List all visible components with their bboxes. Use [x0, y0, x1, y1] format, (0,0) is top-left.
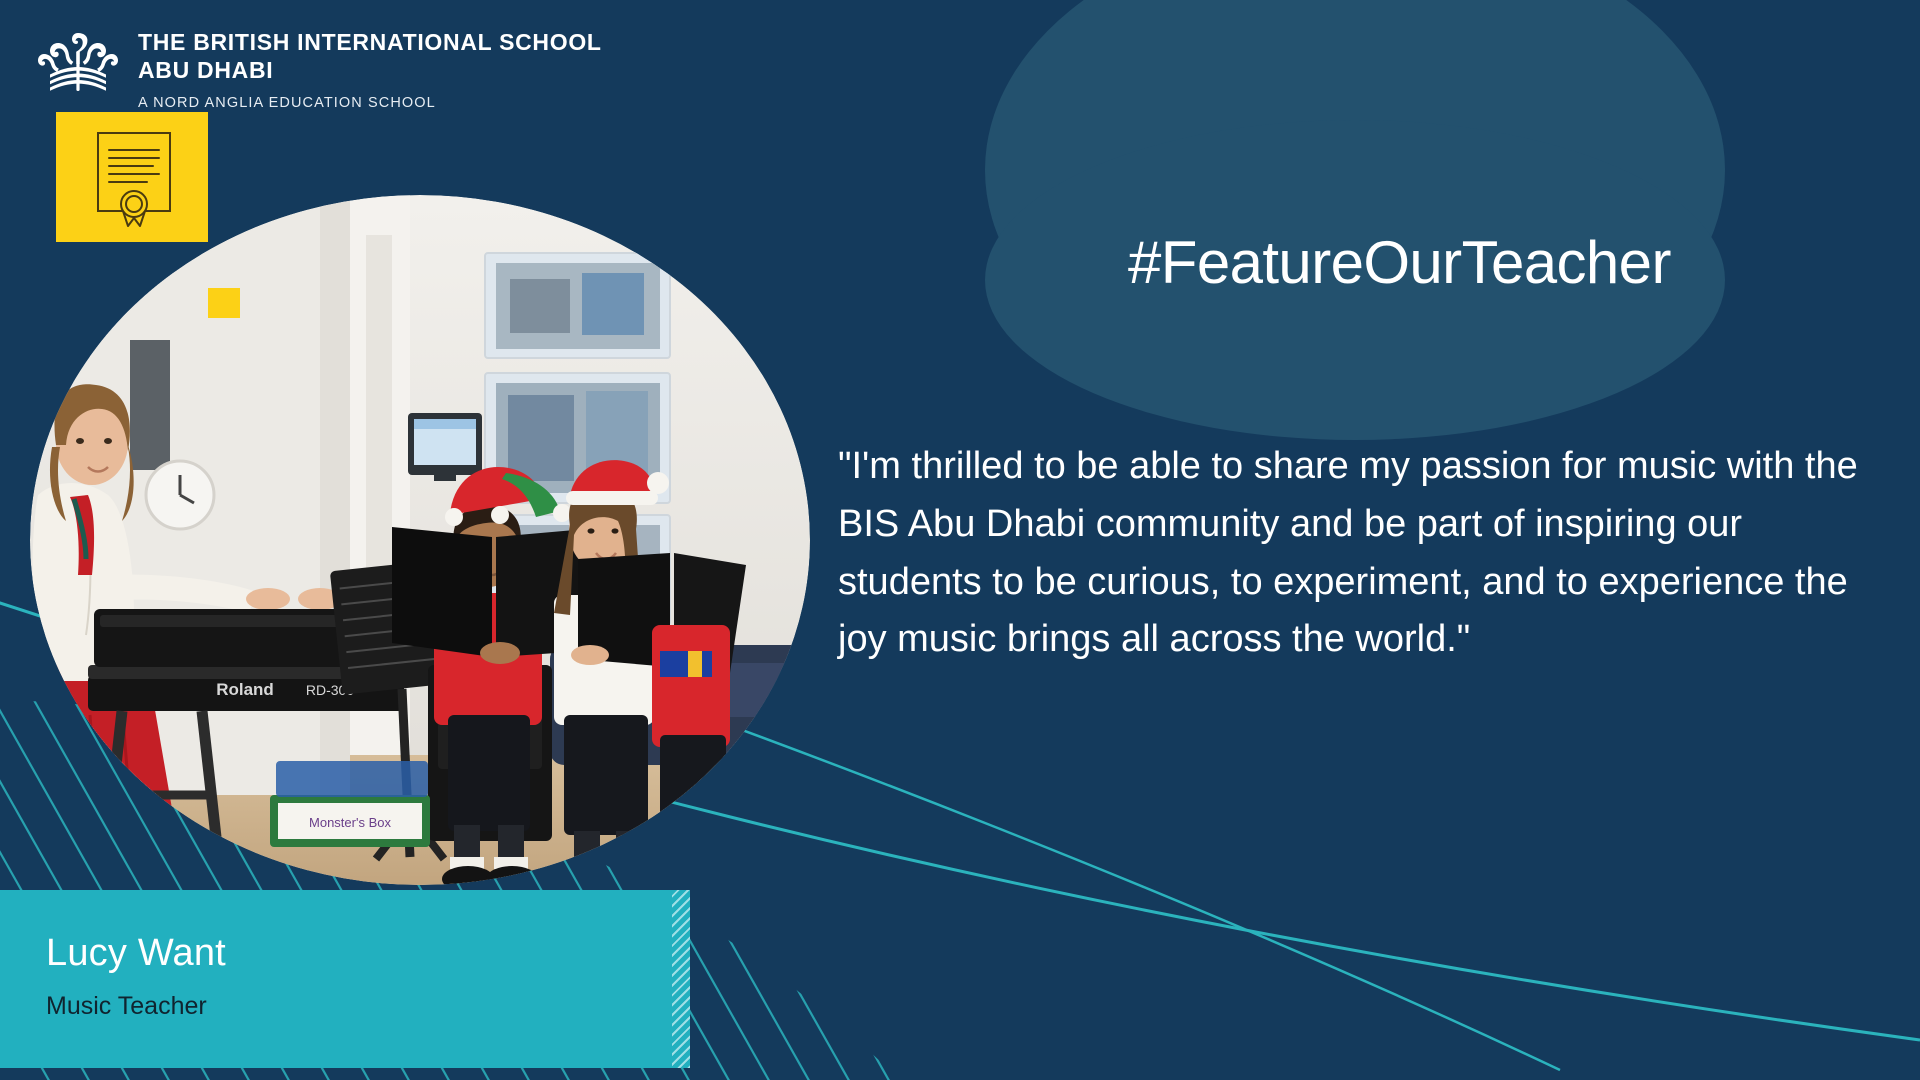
- school-name-line-1: THE BRITISH INTERNATIONAL SCHOOL: [138, 28, 602, 56]
- brand-tagline: A NORD ANGLIA EDUCATION SCHOOL: [138, 95, 602, 111]
- certificate-icon: [92, 130, 176, 230]
- teacher-photo: Roland RD-300: [30, 195, 810, 885]
- brand-lockup: THE BRITISH INTERNATIONAL SCHOOL ABU DHA…: [36, 24, 602, 111]
- school-name-line-2: ABU DHABI: [138, 56, 602, 84]
- certificate-badge: [56, 112, 208, 242]
- svg-text:Roland: Roland: [216, 680, 274, 699]
- teacher-role: Music Teacher: [46, 992, 207, 1021]
- brand-text-block: THE BRITISH INTERNATIONAL SCHOOL ABU DHA…: [138, 24, 602, 111]
- banner-hatch-edge: [672, 890, 690, 1068]
- campaign-hashtag: #FeatureOurTeacher: [1128, 228, 1671, 297]
- feature-our-teacher-slide: THE BRITISH INTERNATIONAL SCHOOL ABU DHA…: [0, 0, 1920, 1080]
- svg-text:Monster's Box: Monster's Box: [309, 815, 391, 830]
- teacher-name-banner: Lucy Want Music Teacher: [0, 890, 690, 1068]
- teacher-quote: "I'm thrilled to be able to share my pas…: [838, 438, 1896, 669]
- teacher-name: Lucy Want: [46, 932, 226, 975]
- yellow-accent-square: [208, 288, 240, 318]
- crown-book-logo: [36, 30, 120, 94]
